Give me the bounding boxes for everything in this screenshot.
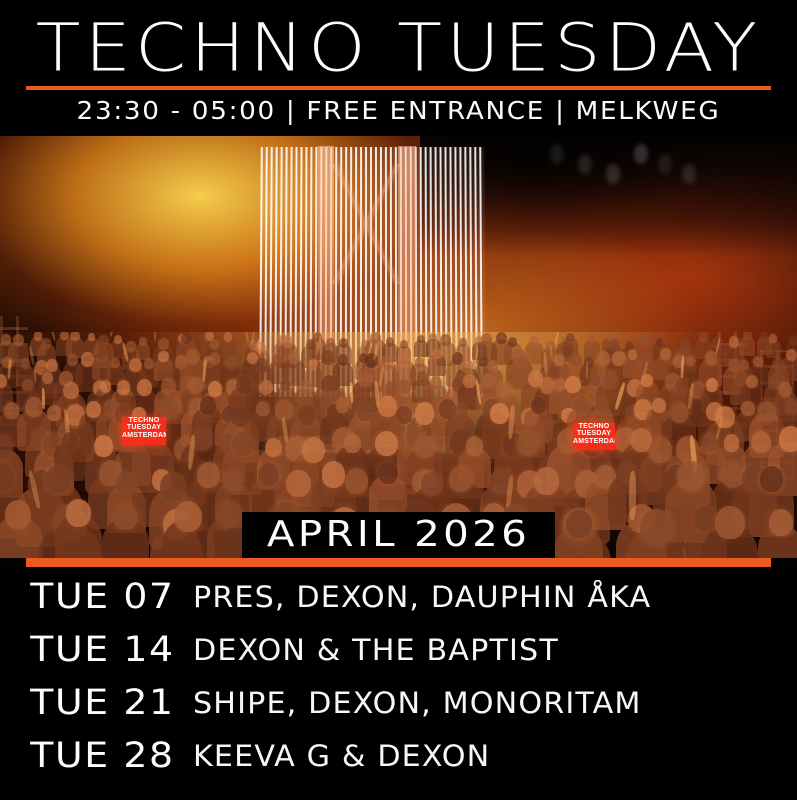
crowd-figure — [378, 396, 397, 417]
crowd-figure — [574, 396, 590, 414]
crowd-figure — [94, 435, 113, 457]
crowd-figure — [197, 462, 220, 488]
crowd-figure — [62, 432, 78, 450]
crowd-figure — [790, 336, 797, 345]
venue-sign: TECHNOTUESDAYAMSTERDAM — [573, 423, 615, 450]
crowd-figure — [785, 399, 797, 415]
ceiling-light — [682, 164, 696, 184]
crowd-figure — [671, 403, 689, 423]
crowd-raised-arm — [628, 471, 635, 520]
crowd-figure — [322, 461, 345, 487]
crowd-figure — [326, 338, 334, 347]
poster-header: TECHNO TUESDAY 23:30 - 05:00 | FREE ENTR… — [0, 0, 797, 136]
lineup-date: TUE 21 — [0, 683, 208, 723]
crowd-figure — [779, 382, 792, 397]
crowd-figure — [117, 380, 130, 395]
page-title: TECHNO TUESDAY — [0, 14, 797, 82]
list-item: TUE 07 PRES, DEXON, DAUPHIN ÅKA — [0, 574, 797, 620]
crowd-figure — [288, 351, 300, 364]
crowd-figure — [70, 332, 79, 341]
lineup-artists: SHIPE, DEXON, MONORITAM — [193, 686, 797, 720]
crowd-figure — [21, 358, 30, 369]
crowd-figure — [740, 360, 749, 370]
crowd-figure — [459, 338, 467, 347]
venue-sign-line: TECHNO — [573, 423, 615, 430]
ceiling-light — [634, 144, 648, 164]
crowd-figure — [432, 349, 441, 359]
crowd-figure — [256, 401, 269, 416]
crowd-figure — [111, 358, 120, 368]
crowd-figure — [174, 501, 202, 533]
crowd-figure — [258, 463, 279, 486]
crowd-figure — [706, 378, 718, 391]
crowd-figure — [116, 471, 137, 494]
crowd-figure — [210, 352, 221, 364]
crowd-figure — [452, 404, 468, 421]
crowd-figure — [641, 374, 653, 387]
crowd-figure — [760, 466, 784, 493]
crowd-figure — [429, 333, 437, 342]
crowd-figure — [602, 371, 617, 388]
venue-sign-line: AMSTERDAM — [573, 438, 615, 445]
lineup-date: TUE 07 — [0, 577, 208, 617]
crowd-figure — [449, 466, 472, 492]
crowd-figure — [490, 403, 509, 424]
crowd-figure — [715, 506, 744, 539]
crowd-figure — [67, 354, 78, 366]
lineup-artists: DEXON & THE BAPTIST — [193, 633, 797, 667]
ceiling-light — [550, 144, 564, 164]
crowd-figure — [421, 472, 443, 496]
ceiling-light — [606, 164, 620, 184]
crowd-figure — [565, 376, 580, 393]
lineup-artists: KEEVA G & DEXON — [193, 739, 797, 773]
crowd-figure — [677, 461, 704, 492]
crowd-figure — [398, 353, 410, 367]
crowd-figure — [336, 397, 350, 412]
crowd-figure — [66, 499, 91, 527]
crowd-figure — [46, 359, 58, 372]
crowd-figure — [113, 503, 138, 530]
crowd-figure — [218, 500, 242, 527]
crowd-figure — [232, 432, 253, 456]
club-photo: TECHNOTUESDAYAMSTERDAMTECHNOTUESDAYAMSTE… — [0, 136, 797, 558]
venue-sign: TECHNOTUESDAYAMSTERDAM — [122, 417, 166, 445]
crowd-figure — [496, 381, 511, 398]
crowd-figure — [5, 500, 31, 529]
crowd-figure — [595, 398, 608, 413]
crowd-figure — [741, 401, 754, 416]
crowd-figure — [46, 465, 71, 493]
crowd-figure — [158, 351, 168, 362]
lineup-artists: PRES, DEXON, DAUPHIN ÅKA — [193, 580, 797, 614]
crowd-figure — [63, 382, 79, 400]
crowd-figure — [517, 431, 540, 456]
event-poster: TECHNO TUESDAY 23:30 - 05:00 | FREE ENTR… — [0, 0, 797, 800]
crowd-figure — [4, 402, 19, 419]
crowd-figure — [256, 358, 268, 372]
crowd-figure — [321, 350, 334, 364]
crowd-figure — [158, 338, 169, 350]
venue-sign-line: AMSTERDAM — [122, 432, 166, 439]
crowd-figure — [628, 349, 638, 360]
crowd-figure — [345, 468, 368, 493]
crowd-figure — [652, 398, 666, 413]
lineup-date: TUE 28 — [0, 736, 208, 776]
crowd-figure — [534, 467, 559, 495]
crowd-figure — [160, 472, 186, 501]
crowd-figure — [779, 426, 797, 452]
crowd-figure — [751, 431, 771, 453]
crowd-figure — [100, 380, 111, 393]
crowd-figure — [609, 339, 619, 350]
crowd-figure — [34, 332, 42, 341]
crowd-figure — [338, 354, 349, 366]
month-banner: APRIL 2026 — [242, 512, 555, 558]
crowd-figure — [378, 462, 398, 484]
crowd-figure — [200, 396, 217, 415]
ceiling-light — [658, 154, 672, 174]
crowd-figure — [735, 372, 746, 384]
crowd-figure — [496, 332, 507, 344]
crowd-figure — [566, 510, 592, 539]
month-divider — [26, 558, 771, 567]
venue-sign-line: TUESDAY — [573, 430, 615, 437]
crowd-figure — [440, 334, 450, 346]
lineup-date: TUE 14 — [0, 630, 208, 670]
crowd-figure — [98, 335, 109, 347]
list-item: TUE 28 KEEVA G & DEXON — [0, 733, 797, 779]
crowd-figure — [466, 436, 483, 455]
crowd-figure — [639, 333, 650, 345]
crowd-figure — [597, 351, 610, 366]
crowd-figure — [137, 379, 152, 396]
crowd-figure — [786, 349, 797, 361]
crowd-figure — [144, 358, 154, 369]
list-item: TUE 14 DEXON & THE BAPTIST — [0, 627, 797, 673]
crowd-figure — [415, 435, 435, 457]
crowd-figure — [265, 438, 283, 458]
crowd-figure — [729, 336, 740, 348]
crowd-figure — [694, 506, 717, 532]
crowd-figure — [236, 376, 252, 393]
crowd-figure — [769, 509, 793, 536]
crowd-figure — [386, 337, 394, 346]
crowd-figure — [96, 349, 106, 360]
month-banner-label: APRIL 2026 — [267, 515, 530, 555]
crowd-figure — [231, 406, 250, 427]
crowd-figure — [224, 332, 232, 341]
crowd-figure — [724, 434, 740, 452]
crowd-figure — [326, 376, 340, 391]
crowd-figure — [675, 378, 687, 392]
crowd-figure — [25, 397, 43, 417]
crowd-figure — [47, 405, 61, 421]
crowd-figure — [344, 434, 361, 453]
crowd-figure — [224, 470, 243, 492]
crowd-figure — [430, 376, 442, 390]
crowd-figure — [181, 332, 192, 344]
crowd-figure — [339, 338, 348, 348]
crowd-figure — [487, 360, 498, 373]
crowd-figure — [160, 397, 180, 419]
lineup-list: TUE 07 PRES, DEXON, DAUPHIN ÅKA TUE 14 D… — [0, 567, 797, 800]
crowd-figure — [114, 335, 122, 344]
crowd-raised-arm — [41, 388, 44, 409]
crowd-figure — [375, 431, 398, 457]
crowd-figure — [481, 333, 492, 345]
crowd-figure — [188, 377, 203, 394]
crowd-figure — [531, 397, 546, 414]
crowd-figure — [400, 340, 408, 349]
crowd-figure — [529, 336, 538, 347]
title-divider — [26, 86, 771, 90]
crowd-figure — [298, 405, 316, 425]
crowd-figure — [126, 341, 136, 352]
crowd-figure — [283, 336, 294, 348]
venue-sign-line: TUESDAY — [122, 424, 166, 431]
crowd-figure — [660, 348, 670, 360]
ceiling-light — [578, 154, 592, 174]
crowd-figure — [743, 332, 751, 340]
crowd-figure — [760, 332, 768, 341]
crowd-figure — [417, 371, 428, 383]
crowd-figure — [517, 354, 529, 367]
crowd-figure — [757, 401, 776, 422]
crowd-figure — [746, 375, 758, 388]
crowd-figure — [417, 335, 425, 343]
led-screen-pattern — [290, 164, 450, 284]
list-item: TUE 21 SHIPE, DEXON, MONORITAM — [0, 680, 797, 726]
crowd-figure — [642, 353, 651, 363]
crowd-figure — [554, 354, 565, 366]
crowd-figure — [566, 333, 574, 342]
crowd-figure — [640, 509, 673, 546]
crowd-figure — [139, 337, 147, 345]
crowd-figure — [186, 349, 200, 364]
crowd-figure — [649, 437, 672, 462]
crowd-figure — [286, 470, 310, 497]
crowd-figure — [463, 374, 475, 388]
crowd-figure — [588, 334, 597, 344]
crowd-figure — [358, 372, 371, 387]
venue-sign-line: TECHNO — [122, 417, 166, 424]
crowd-figure — [13, 334, 24, 346]
crowd-figure — [415, 357, 425, 368]
crowd-figure — [699, 332, 708, 342]
crowd-figure — [42, 338, 52, 349]
crowd-figure — [272, 354, 282, 366]
crowd-figure — [680, 339, 691, 351]
poster-subtitle: 23:30 - 05:00 | FREE ENTRANCE | MELKWEG — [7, 96, 789, 126]
